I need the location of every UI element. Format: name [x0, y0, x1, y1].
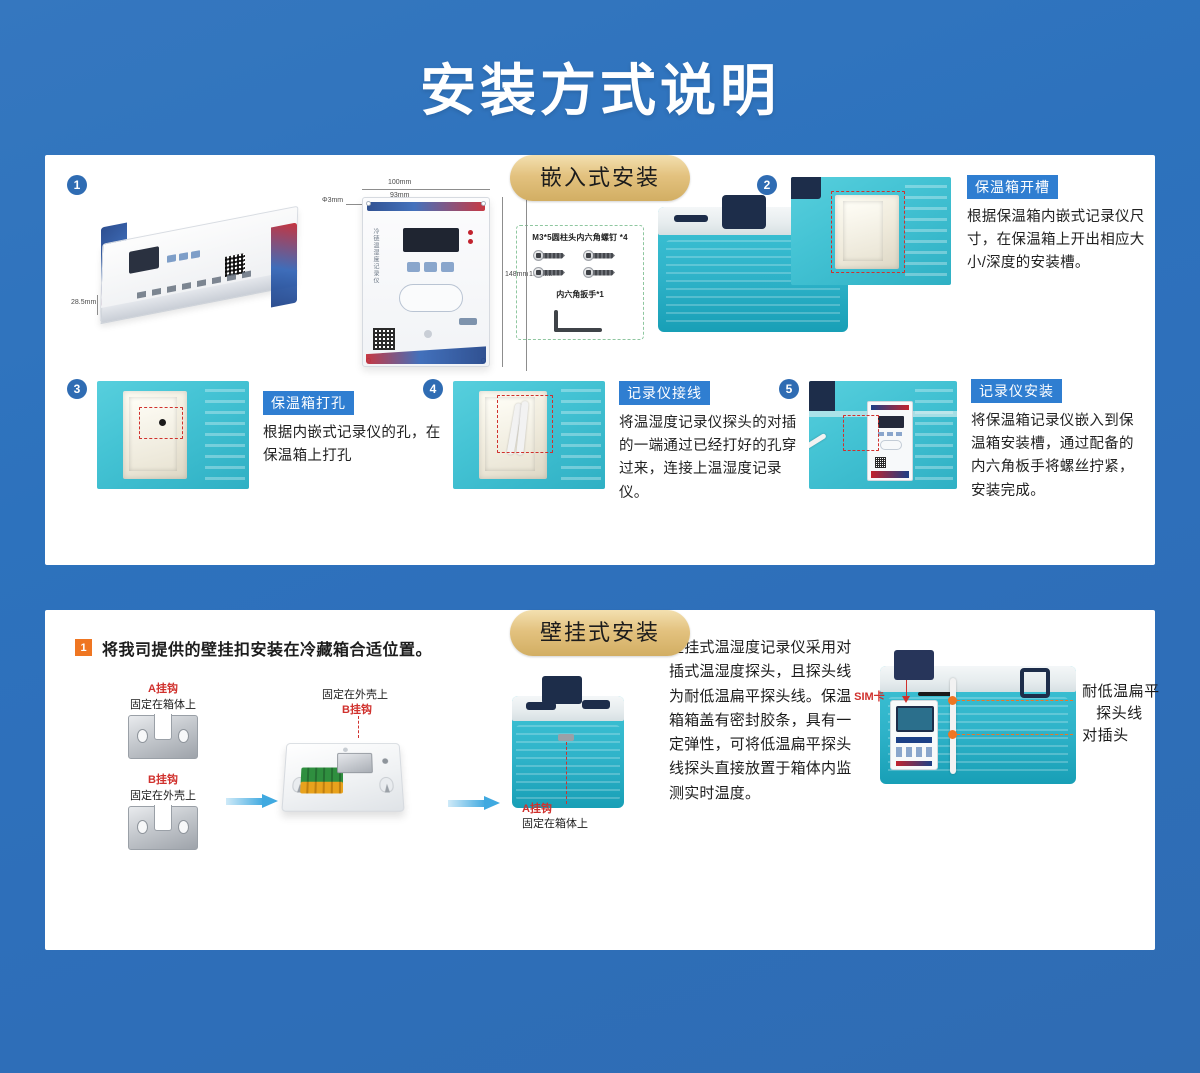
step-4-photo [453, 381, 605, 489]
cooler-with-hook: A挂钩 固定在箱体上 [504, 682, 634, 832]
dim-width-outer: 100mm [388, 179, 411, 186]
device-top-stripe-icon [367, 202, 485, 211]
led-indicator-icon [468, 239, 473, 244]
bracket-note: 固定在外壳上 [322, 686, 388, 702]
device-button-icon [441, 262, 454, 272]
wall-step-1: 1 将我司提供的壁挂扣安装在冷藏箱合适位置。 A挂钩 固定在箱体上 B挂 [75, 636, 642, 850]
cooler-handle-icon [582, 700, 610, 709]
hook-b-name: B挂钩 [102, 771, 224, 787]
wall-bracket-icon [281, 743, 404, 812]
step-2: 2 保温箱开槽 根据保温箱内嵌式记录仪尺寸，在保温箱上开出相应大小/深度的安装槽… [757, 173, 1137, 371]
step-number-5: 5 [779, 379, 799, 399]
section-badge-wall: 壁挂式安装 [510, 610, 690, 656]
hook-b-icon [128, 806, 198, 850]
flow-arrow-2-icon [448, 796, 502, 810]
dim-line [362, 189, 490, 190]
section-badge-embedded: 嵌入式安装 [510, 155, 690, 201]
step-number-2: 2 [757, 175, 777, 195]
step-3-tag: 保温箱打孔 [263, 391, 354, 415]
cable-top-icon [918, 692, 954, 696]
wall-step-number-1: 1 [75, 639, 92, 656]
screw-icon [531, 266, 579, 279]
cooler-handle-icon [674, 215, 708, 222]
device-front-face: 冷链温湿度记录仪 [362, 197, 490, 367]
step-5-photo [809, 381, 957, 489]
sim-card-label: SIM卡 [854, 688, 885, 704]
device-indicator-icon [424, 330, 432, 338]
accessories-screws-label: M3*5圆柱头内六角螺钉 *4 [521, 232, 639, 243]
screw-hole-icon [366, 201, 371, 206]
cable-label-line1: 耐低温扁平 [1082, 680, 1160, 701]
sim-arrow-icon [902, 696, 910, 703]
hooks-column: A挂钩 固定在箱体上 B挂钩 固定在外壳上 [102, 680, 224, 850]
hex-wrench-icon [554, 306, 606, 334]
step-5-tag: 记录仪安装 [971, 379, 1062, 403]
terminal-block-icon [300, 782, 343, 794]
cooler-antenna-icon [809, 381, 835, 411]
device-qr-code-icon [373, 328, 395, 350]
device-side-text: 冷链温湿度记录仪 [371, 228, 380, 284]
cooler-box-icon [512, 696, 624, 808]
plug-label: 对插头 [1082, 724, 1129, 745]
hook-a-leader-line [566, 742, 567, 804]
cooler-handle-icon [1020, 668, 1050, 698]
step-2-tag: 保温箱开槽 [967, 175, 1058, 199]
dim-thickness: 28.5mm [71, 299, 96, 306]
device-lcd-icon [403, 228, 459, 252]
step-3-text: 保温箱打孔 根据内嵌式记录仪的孔，在保温箱上打孔 [263, 377, 443, 547]
dim-line [97, 295, 98, 315]
cable-label-line2: 探头线 [1096, 702, 1143, 723]
step-number-3: 3 [67, 379, 87, 399]
dim-line [526, 193, 527, 371]
slot-marking-icon [831, 191, 905, 273]
accessories-wrench-label: 内六角扳手*1 [521, 289, 639, 300]
screw-icon [531, 249, 579, 262]
step-2-text: 保温箱开槽 根据保温箱内嵌式记录仪尺寸，在保温箱上开出相应大小/深度的安装槽。 [967, 173, 1157, 371]
device-button-icon [424, 262, 437, 272]
accessories-box: M3*5圆柱头内六角螺钉 *4 内六角扳手*1 [516, 225, 644, 340]
hook-a-icon [128, 715, 198, 759]
hook-a-name: A挂钩 [102, 680, 224, 696]
wall-step-2: 2 壁挂式温湿度记录仪采用对插式温湿度探头，且探头线为耐低温扁平探头线。保温箱箱… [642, 636, 1172, 850]
step-4-tag: 记录仪接线 [619, 381, 710, 405]
screw-icon [581, 266, 629, 279]
page-title: 安装方式说明 [0, 0, 1200, 127]
device-dial-icon [399, 284, 463, 312]
step-5-desc: 将保温箱记录仪嵌入到保温箱安装槽，通过配备的内六角板手将螺丝拧紧，安装完成。 [971, 410, 1147, 503]
mounted-hook-a-icon [558, 734, 574, 741]
step-4: 4 记录仪接线 将温湿度记录仪探头的对插的一端通过已经打好的孔穿过来，连接上温湿… [423, 377, 779, 547]
device-front-view-group: 100mm 93mm Φ3mm [310, 173, 490, 367]
solar-panel-icon [894, 650, 934, 680]
step-4-text: 记录仪接线 将温湿度记录仪探头的对插的一端通过已经打好的孔穿过来，连接上温湿度记… [619, 377, 805, 547]
step-number-4: 4 [423, 379, 443, 399]
install-marking-icon [843, 415, 879, 451]
step-3-photo [97, 381, 249, 489]
box-hook-note: 固定在箱体上 [522, 815, 588, 831]
cooler-antenna-icon [791, 177, 821, 199]
device-button-icon [407, 262, 420, 272]
cooler-ribs-icon [915, 389, 953, 481]
screw-hole-icon [481, 201, 486, 206]
step-5: 5 [779, 377, 1129, 547]
cooler-ribs-icon [905, 185, 947, 277]
hook-b-note: 固定在外壳上 [102, 787, 224, 803]
step-2-desc: 根据保温箱内嵌式记录仪尺寸，在保温箱上开出相应大小/深度的安装槽。 [967, 206, 1157, 276]
flow-arrow-1-icon [226, 794, 280, 808]
wall-panel: 1 将我司提供的壁挂扣安装在冷藏箱合适位置。 A挂钩 固定在箱体上 B挂 [45, 610, 1155, 950]
dim-height-inner: 148mm [505, 271, 528, 278]
step-4-desc: 将温湿度记录仪探头的对插的一端通过已经打好的孔穿过来，连接上温湿度记录仪。 [619, 412, 805, 505]
bracket-leader-line [358, 716, 359, 738]
device-isometric-view: 28.5mm [95, 211, 310, 336]
device-stripe-right-icon [271, 222, 297, 307]
wiring-marking-icon [497, 395, 553, 453]
cooler-ribs-icon [561, 389, 601, 481]
cooler-antenna-icon [542, 676, 582, 704]
hole-marking-icon [139, 407, 183, 439]
step-1-illustration: 28.5mm 100mm 93mm Φ3mm [87, 173, 848, 371]
embedded-panel: 1 [45, 155, 1155, 565]
step-number-1: 1 [67, 175, 87, 195]
step-1: 1 [67, 173, 757, 371]
wall-mounted-recorder-icon [890, 700, 938, 770]
flat-probe-cable-icon [950, 678, 956, 774]
bracket-hook-icon [337, 753, 373, 773]
screw-icon [581, 249, 629, 262]
dim-line [502, 197, 503, 367]
box-hook-name: A挂钩 [522, 800, 552, 816]
wall-mounted-cooler-illustration: SIM卡 耐低温扁平 探头线 对插头 [860, 644, 1172, 804]
section-wall-install: 壁挂式安装 1 将我司提供的壁挂扣安装在冷藏箱合适位置。 A挂钩 固定在箱体上 [45, 610, 1155, 950]
device-button-icon [459, 318, 477, 325]
bracket-assembly: 固定在外壳上 B挂钩 [284, 714, 444, 812]
hook-a-note: 固定在箱体上 [102, 696, 224, 712]
step-3-desc: 根据内嵌式记录仪的孔，在保温箱上打孔 [263, 422, 443, 468]
screws-group [531, 249, 629, 279]
bracket-hook-name: B挂钩 [342, 701, 372, 717]
cooler-ribs-icon [205, 389, 245, 481]
callout-line-plug [957, 734, 1073, 735]
step-3: 3 保温箱打孔 根据内嵌式记录仪的孔，在保温箱上打孔 [67, 377, 423, 547]
wall-step-2-body: 壁挂式温湿度记录仪采用对插式温湿度探头，且探头线为耐低温扁平探头线。保温箱箱盖有… [669, 636, 856, 806]
probe-cable-icon [809, 433, 827, 467]
led-indicator-icon [468, 230, 473, 235]
callout-line-cable [957, 700, 1073, 701]
step-2-photo [791, 177, 951, 285]
step-5-text: 记录仪安装 将保温箱记录仪嵌入到保温箱安装槽，通过配备的内六角板手将螺丝拧紧，安… [971, 377, 1147, 547]
dim-hole-diameter: Φ3mm [322, 197, 343, 204]
section-embedded-install: 嵌入式安装 1 [45, 155, 1155, 565]
